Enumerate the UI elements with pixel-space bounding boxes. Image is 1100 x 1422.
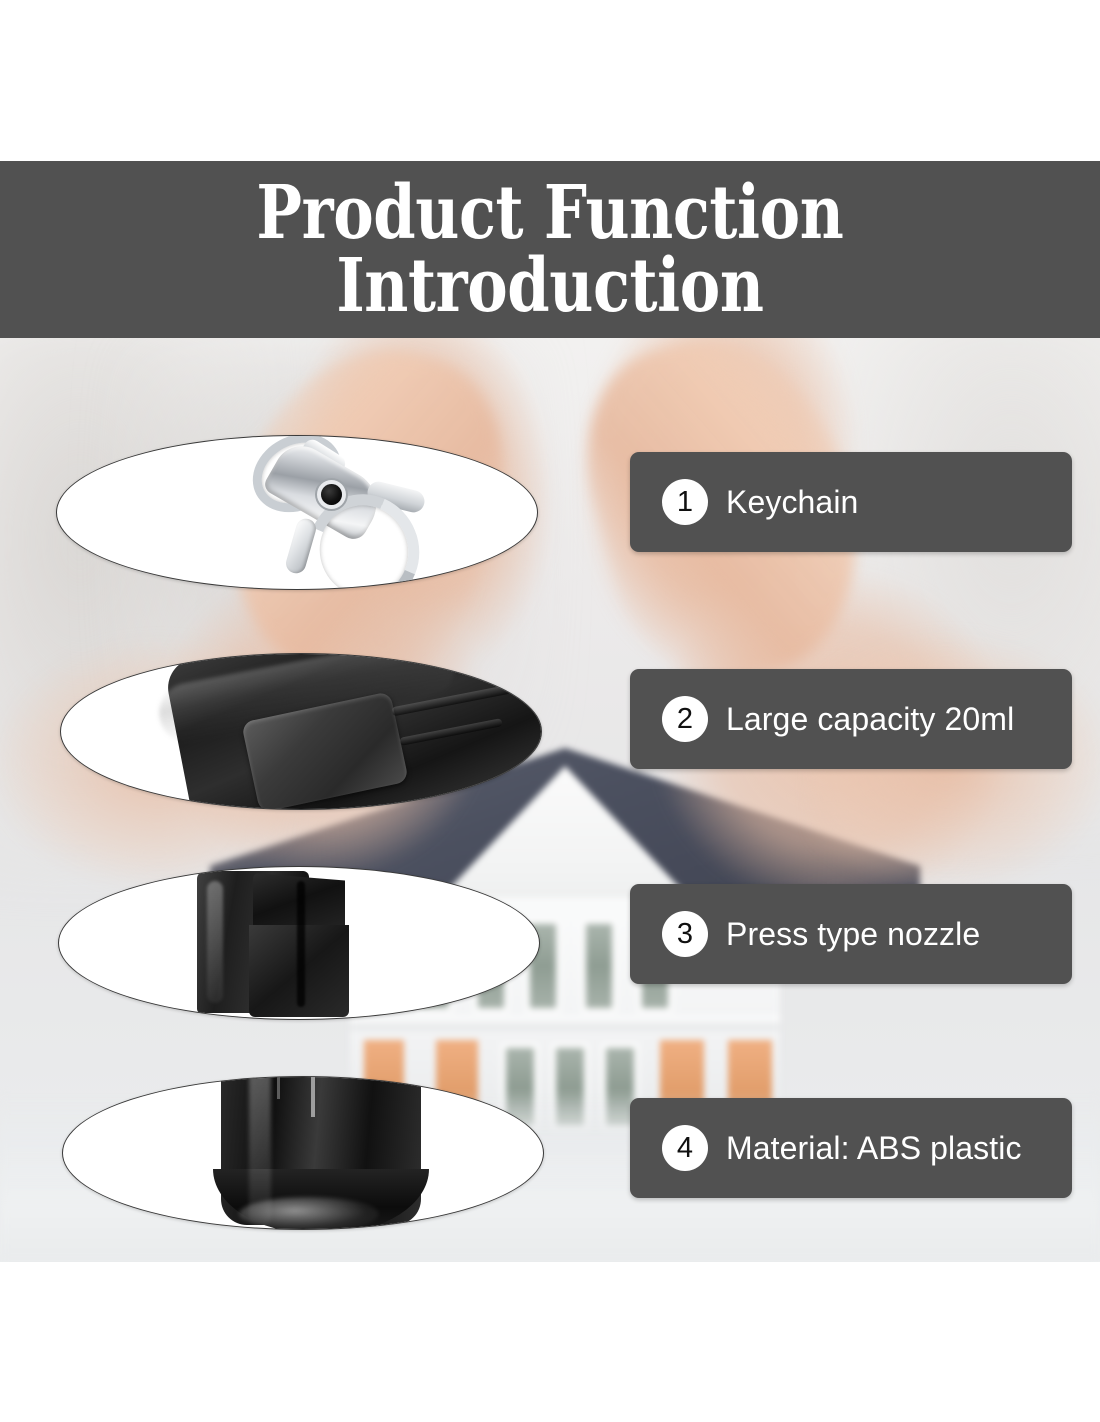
bottle-body-icon bbox=[61, 654, 541, 809]
feature-label-4[interactable]: 4 Material: ABS plastic bbox=[630, 1098, 1072, 1198]
feature-label-text-4: Material: ABS plastic bbox=[726, 1130, 1022, 1167]
header-band: Product Function Introduction bbox=[0, 161, 1100, 338]
keychain-lobster-clasp-icon bbox=[57, 436, 537, 589]
feature-image-oval-4 bbox=[62, 1076, 544, 1230]
bottle-base-icon bbox=[63, 1077, 543, 1229]
feature-image-oval-2 bbox=[60, 653, 542, 810]
house-window bbox=[586, 924, 612, 1008]
feature-label-text-1: Keychain bbox=[726, 484, 858, 521]
press-nozzle-icon bbox=[59, 867, 539, 1019]
feature-number-badge-3: 3 bbox=[662, 911, 708, 957]
feature-image-oval-3 bbox=[58, 866, 540, 1020]
feature-number-badge-2: 2 bbox=[662, 696, 708, 742]
feature-number-badge-4: 4 bbox=[662, 1125, 708, 1171]
feature-label-text-2: Large capacity 20ml bbox=[726, 701, 1014, 738]
feature-image-oval-1 bbox=[56, 435, 538, 590]
infographic-page: Product Function Introduction bbox=[0, 0, 1100, 1422]
feature-label-2[interactable]: 2 Large capacity 20ml bbox=[630, 669, 1072, 769]
feature-label-1[interactable]: 1 Keychain bbox=[630, 452, 1072, 552]
feature-label-text-3: Press type nozzle bbox=[726, 916, 980, 953]
photo-stage: 1 Keychain 2 Large capacity 20ml 3 Press… bbox=[0, 338, 1100, 1262]
feature-number-badge-1: 1 bbox=[662, 479, 708, 525]
page-title: Product Function Introduction bbox=[240, 177, 860, 322]
feature-label-3[interactable]: 3 Press type nozzle bbox=[630, 884, 1072, 984]
